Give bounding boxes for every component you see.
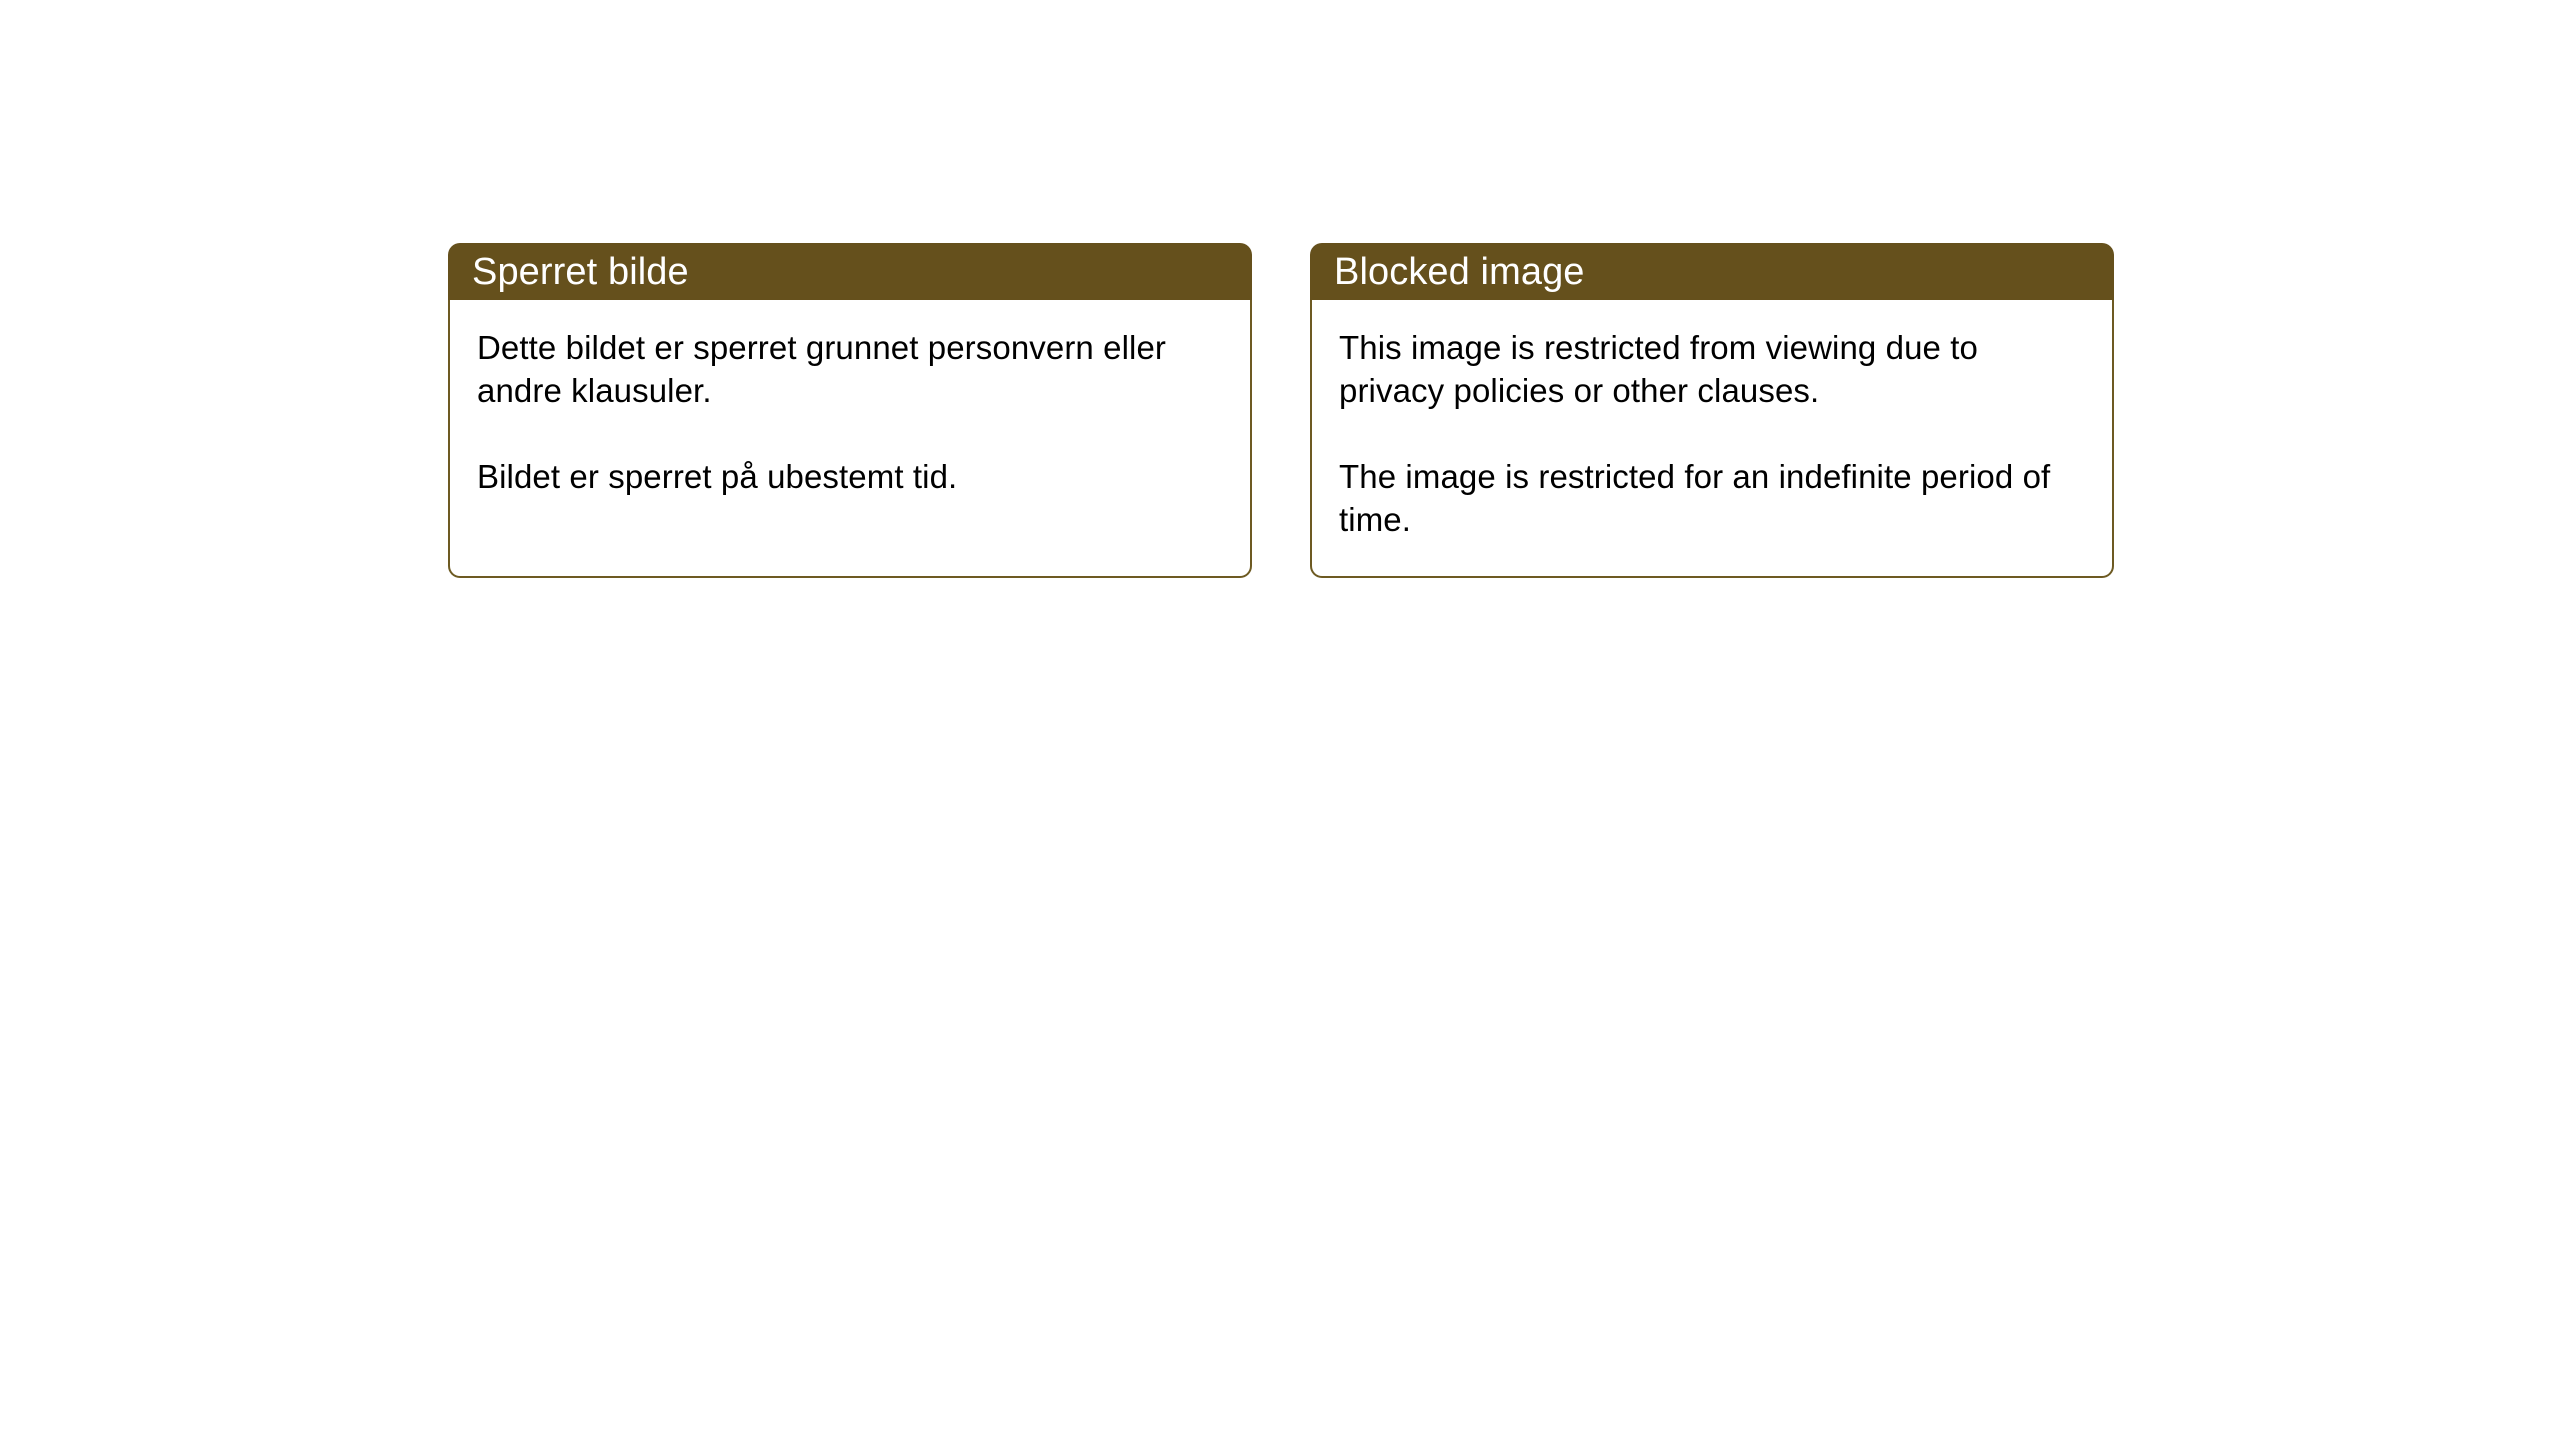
panel-body-english: This image is restricted from viewing du…: [1310, 300, 2114, 578]
panel-paragraph-norwegian-1: Dette bildet er sperret grunnet personve…: [477, 326, 1224, 412]
panel-header-english: Blocked image: [1310, 243, 2114, 300]
panel-title-english: Blocked image: [1334, 253, 1585, 291]
panel-paragraph-norwegian-2: Bildet er sperret på ubestemt tid.: [477, 455, 1224, 498]
panel-body-norwegian: Dette bildet er sperret grunnet personve…: [448, 300, 1252, 578]
blocked-image-notice-english: Blocked image This image is restricted f…: [1310, 243, 2114, 578]
page-canvas: Sperret bilde Dette bildet er sperret gr…: [0, 0, 2560, 1440]
panel-header-norwegian: Sperret bilde: [448, 243, 1252, 300]
blocked-image-notice-norwegian: Sperret bilde Dette bildet er sperret gr…: [448, 243, 1252, 578]
panel-paragraph-english-2: The image is restricted for an indefinit…: [1339, 455, 2086, 541]
panel-title-norwegian: Sperret bilde: [472, 253, 689, 291]
panel-paragraph-english-1: This image is restricted from viewing du…: [1339, 326, 2086, 412]
